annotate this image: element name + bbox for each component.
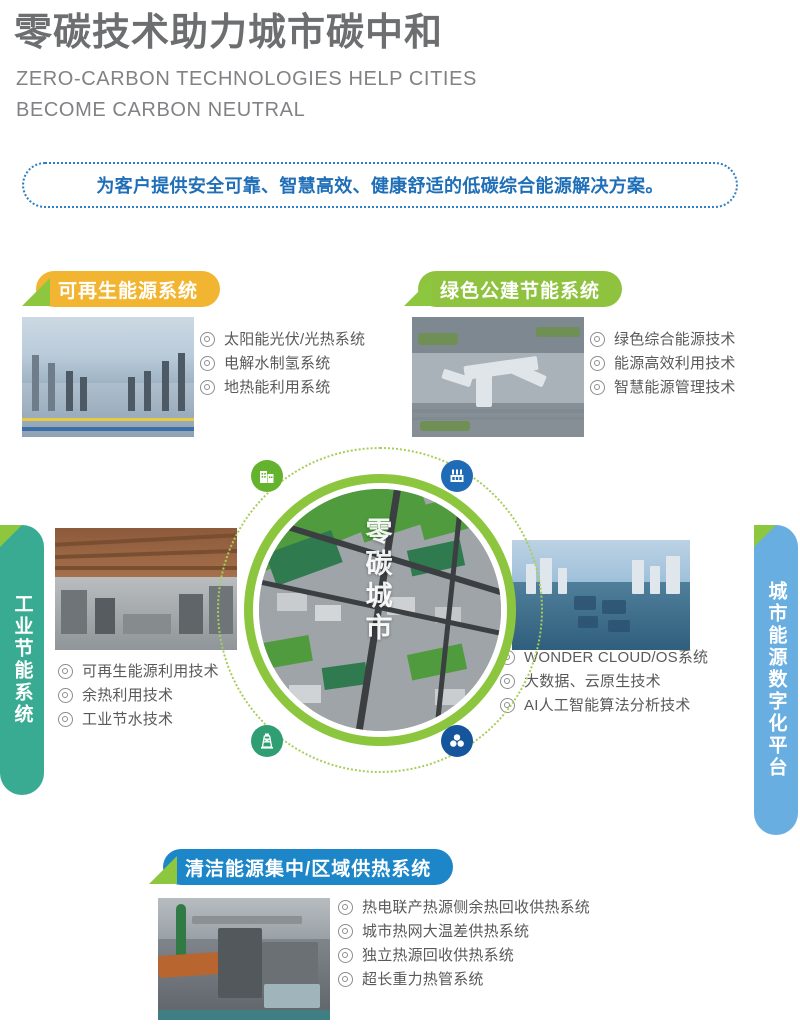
- list-item: 独立热源回收供热系统: [338, 948, 590, 963]
- tower-icon: [251, 725, 283, 757]
- pill-accent-triangle: [149, 856, 179, 886]
- industrial-corridor-photo: [22, 317, 194, 437]
- boiler-room-photo: [158, 898, 330, 1020]
- factory-icon: [441, 460, 473, 492]
- industrial-items-list: 可再生能源利用技术 余热利用技术 工业节水技术: [58, 664, 219, 736]
- subtitle-line-1: ZERO-CARBON TECHNOLOGIES HELP CITIES: [16, 64, 616, 95]
- bullet-icon: [200, 332, 215, 347]
- tab-accent-triangle: [0, 525, 22, 547]
- list-item: 超长重力热管系统: [338, 972, 590, 987]
- bullet-icon: [58, 712, 73, 727]
- section-pill-clean-heating-label: 清洁能源集中/区域供热系统: [185, 854, 431, 881]
- bullet-icon: [338, 972, 353, 987]
- list-item: 城市热网大温差供热系统: [338, 924, 590, 939]
- bullet-icon: [200, 380, 215, 395]
- section-pill-green-building-label: 绿色公建节能系统: [440, 276, 600, 303]
- list-item: 地热能利用系统: [200, 380, 365, 395]
- tagline-text: 为客户提供安全可靠、智慧高效、健康舒适的低碳综合能源解决方案。: [96, 172, 663, 198]
- list-item: 余热利用技术: [58, 688, 219, 703]
- list-item: 智慧能源管理技术: [590, 380, 736, 395]
- section-pill-green-building[interactable]: 绿色公建节能系统: [418, 271, 622, 307]
- clean-heating-items-list: 热电联产热源侧余热回收供热系统 城市热网大温差供热系统 独立热源回收供热系统 超…: [338, 900, 590, 996]
- molecule-icon: [441, 725, 473, 757]
- bullet-icon: [590, 380, 605, 395]
- industrial-hall-photo: [55, 528, 237, 650]
- bullet-icon: [590, 332, 605, 347]
- section-pill-renewable[interactable]: 可再生能源系统: [36, 271, 220, 307]
- page-subtitle-en: ZERO-CARBON TECHNOLOGIES HELP CITIES BEC…: [16, 64, 616, 126]
- list-item: 太阳能光伏/光热系统: [200, 332, 365, 347]
- tagline-banner: 为客户提供安全可靠、智慧高效、健康舒适的低碳综合能源解决方案。: [22, 162, 738, 208]
- list-item: 能源高效利用技术: [590, 356, 736, 371]
- bullet-icon: [200, 356, 215, 371]
- tab-accent-triangle: [754, 525, 776, 547]
- section-tab-industrial-label: 工业节能系统: [9, 594, 36, 726]
- building-icon: [251, 460, 283, 492]
- green-building-items-list: 绿色综合能源技术 能源高效利用技术 智慧能源管理技术: [590, 332, 736, 404]
- bullet-icon: [338, 924, 353, 939]
- zero-carbon-city-map: 零 碳 城 市: [259, 489, 501, 731]
- section-pill-renewable-label: 可再生能源系统: [58, 276, 198, 303]
- list-item: 可再生能源利用技术: [58, 664, 219, 679]
- list-item: 热电联产热源侧余热回收供热系统: [338, 900, 590, 915]
- bullet-icon: [338, 948, 353, 963]
- list-item: 工业节水技术: [58, 712, 219, 727]
- section-tab-digital-platform[interactable]: 城市能源数字化平台: [754, 525, 798, 835]
- section-pill-clean-heating[interactable]: 清洁能源集中/区域供热系统: [163, 849, 453, 885]
- airport-aerial-photo: [412, 317, 584, 437]
- bullet-icon: [338, 900, 353, 915]
- page-title: 零碳技术助力城市碳中和: [14, 14, 443, 54]
- central-hub: 零 碳 城 市: [217, 447, 543, 773]
- bullet-icon: [58, 664, 73, 679]
- list-item: 绿色综合能源技术: [590, 332, 736, 347]
- pill-accent-triangle: [22, 278, 52, 308]
- hub-label: 零 碳 城 市: [259, 517, 501, 644]
- list-item: 电解水制氢系统: [200, 356, 365, 371]
- bullet-icon: [590, 356, 605, 371]
- bullet-icon: [58, 688, 73, 703]
- pill-accent-triangle: [404, 278, 434, 308]
- subtitle-line-2: BECOME CARBON NEUTRAL: [16, 95, 616, 126]
- infographic-page: 零碳技术助力城市碳中和 ZERO-CARBON TECHNOLOGIES HEL…: [0, 0, 800, 1035]
- renewable-items-list: 太阳能光伏/光热系统 电解水制氢系统 地热能利用系统: [200, 332, 365, 404]
- section-tab-industrial[interactable]: 工业节能系统: [0, 525, 44, 795]
- section-tab-digital-platform-label: 城市能源数字化平台: [763, 581, 790, 779]
